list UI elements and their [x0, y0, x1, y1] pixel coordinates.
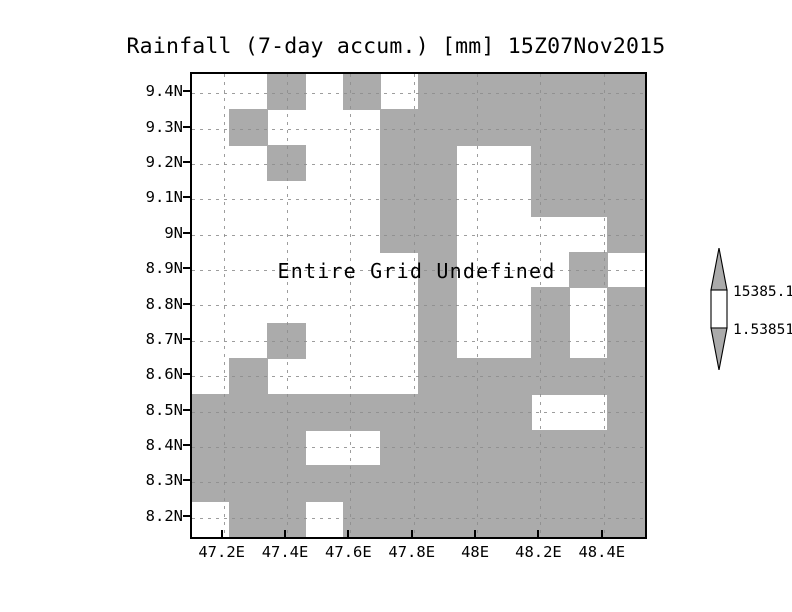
gridline-horizontal — [192, 305, 645, 306]
heatmap-cell — [569, 109, 608, 146]
heatmap-cell — [418, 465, 457, 502]
gridline-horizontal — [192, 376, 645, 377]
x-axis-tick-mark — [474, 530, 476, 537]
heatmap-cell — [607, 465, 645, 502]
x-axis-tick-mark — [411, 530, 413, 537]
heatmap-cell — [569, 465, 608, 502]
heatmap-cell — [229, 465, 268, 502]
heatmap-cell — [305, 465, 344, 502]
gridline-horizontal — [192, 164, 645, 165]
heatmap-cell — [456, 465, 495, 502]
y-axis-tick-mark — [183, 444, 190, 446]
heatmap-cell — [531, 465, 570, 502]
page-title: Rainfall (7-day accum.) [mm] 15Z07Nov201… — [0, 34, 792, 59]
y-axis-tick-label: 8.6N — [146, 367, 183, 383]
colorbar-max-label: 15385.1 — [733, 285, 792, 300]
y-axis-tick-label: 9N — [164, 226, 183, 242]
gridline-vertical — [287, 74, 288, 537]
gridline-horizontal — [192, 199, 645, 200]
heatmap-cell — [494, 465, 533, 502]
y-axis-tick-label: 8.3N — [146, 473, 183, 489]
plot-area — [190, 72, 647, 539]
x-axis: 47.2E47.4E47.6E47.8E48E48.2E48.4E — [190, 537, 643, 567]
y-axis-tick-mark — [183, 196, 190, 198]
gridline-horizontal — [192, 447, 645, 448]
heatmap-cell — [343, 465, 382, 502]
y-axis-tick-mark — [183, 267, 190, 269]
heatmap-cell — [418, 109, 457, 146]
x-axis-tick-mark — [537, 530, 539, 537]
gridline-horizontal — [192, 412, 645, 413]
y-axis-tick-label: 9.2N — [146, 155, 183, 171]
y-axis-tick-label: 9.4N — [146, 84, 183, 100]
gridline-vertical — [540, 74, 541, 537]
gridline-horizontal — [192, 518, 645, 519]
y-axis-tick-label: 8.9N — [146, 261, 183, 277]
y-axis-tick-label: 8.4N — [146, 438, 183, 454]
y-axis-tick-label: 8.7N — [146, 332, 183, 348]
gridline-vertical — [414, 74, 415, 537]
y-axis-tick-label: 9.3N — [146, 120, 183, 136]
x-axis-tick-mark — [284, 530, 286, 537]
x-axis-tick-mark — [601, 530, 603, 537]
y-axis-tick-mark — [183, 232, 190, 234]
gridline-vertical — [350, 74, 351, 537]
heatmap-cell — [531, 109, 570, 146]
colorbar-min-label: 1.53851 — [733, 323, 792, 338]
heatmap-cell — [456, 109, 495, 146]
y-axis-tick-label: 8.2N — [146, 509, 183, 525]
x-axis-tick-mark — [347, 530, 349, 537]
y-axis-tick-mark — [183, 303, 190, 305]
y-axis: 9.4N9.3N9.2N9.1N9N8.9N8.8N8.7N8.6N8.5N8.… — [135, 72, 183, 535]
x-axis-tick-mark — [221, 530, 223, 537]
y-axis-tick-mark — [183, 373, 190, 375]
y-axis-tick-mark — [183, 126, 190, 128]
y-axis-tick-mark — [183, 515, 190, 517]
y-axis-tick-mark — [183, 338, 190, 340]
colorbar-swatch — [708, 248, 730, 370]
y-axis-tick-mark — [183, 90, 190, 92]
heatmap-cell — [229, 109, 268, 146]
heatmap-cell — [607, 109, 645, 146]
plot-inner — [192, 74, 645, 537]
y-axis-tick-label: 8.8N — [146, 297, 183, 313]
y-axis-tick-label: 8.5N — [146, 403, 183, 419]
y-axis-tick-mark — [183, 409, 190, 411]
gridline-horizontal — [192, 93, 645, 94]
y-axis-tick-mark — [183, 161, 190, 163]
gridline-vertical — [224, 74, 225, 537]
gridline-horizontal — [192, 129, 645, 130]
gridline-vertical — [604, 74, 605, 537]
gridline-vertical — [477, 74, 478, 537]
gridline-horizontal — [192, 482, 645, 483]
gridline-horizontal — [192, 341, 645, 342]
gridline-horizontal — [192, 235, 645, 236]
y-axis-tick-label: 9.1N — [146, 190, 183, 206]
x-axis-tick-label: 48.4E — [562, 545, 642, 561]
colorbar-legend: 15385.1 1.53851 — [700, 248, 790, 370]
heatmap-cell — [494, 109, 533, 146]
y-axis-tick-mark — [183, 479, 190, 481]
gridline-horizontal — [192, 270, 645, 271]
